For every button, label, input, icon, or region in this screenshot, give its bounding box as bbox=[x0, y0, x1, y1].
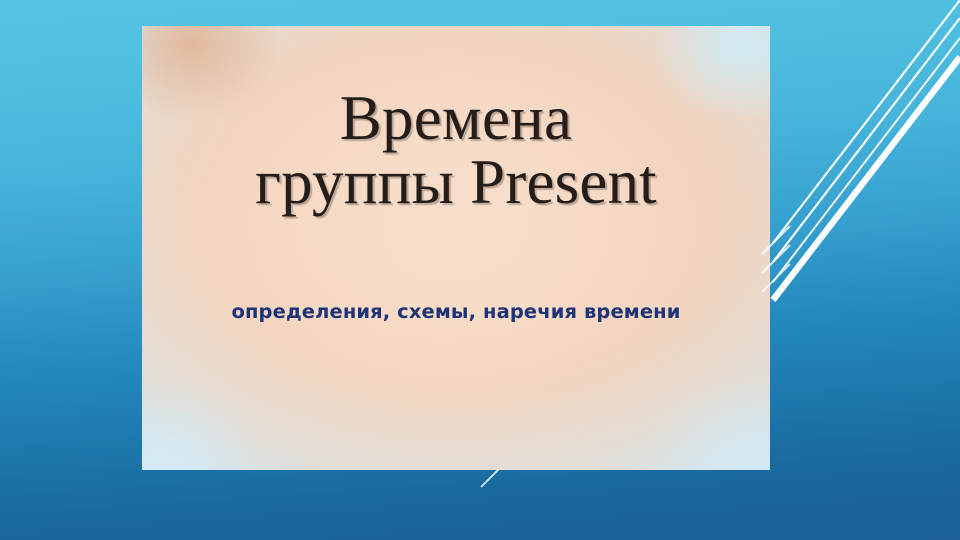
thin-diagonal-line-1 bbox=[773, 0, 960, 243]
thin-diagonal-line-2 bbox=[773, 18, 960, 262]
slide-title: Времена группы Present bbox=[148, 86, 764, 215]
slide-text-block: Времена группы Present определения, схем… bbox=[142, 26, 770, 470]
thin-diagonal-line-group bbox=[773, 0, 960, 282]
slide-subtitle: определения, схемы, наречия времени bbox=[148, 300, 764, 323]
thick-diagonal-line bbox=[773, 57, 960, 300]
slide-content-panel: Времена группы Present определения, схем… bbox=[142, 26, 770, 470]
thin-diagonal-line-3 bbox=[773, 38, 960, 282]
presentation-slide: Времена группы Present определения, схем… bbox=[0, 0, 960, 540]
